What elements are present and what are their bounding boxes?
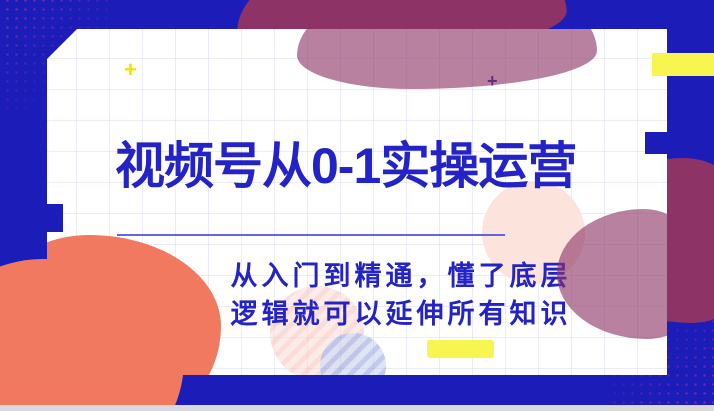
blue-tab-right-edge (645, 132, 677, 154)
course-cover-poster: + + + 视频号从0-1实操运营 从入门到精通，懂了底层 (0, 0, 714, 411)
yellow-bar-right-edge (652, 53, 714, 76)
plus-icon-yellow: + (124, 59, 137, 81)
blue-tab-left-edge (32, 204, 63, 232)
yellow-pill-decoration (427, 340, 494, 358)
content-card: + + + 视频号从0-1实操运营 从入门到精通，懂了底层 (47, 29, 667, 375)
page-title: 视频号从0-1实操运营 (115, 141, 667, 191)
title-divider (117, 234, 505, 236)
bottom-gray-strip (0, 405, 714, 411)
